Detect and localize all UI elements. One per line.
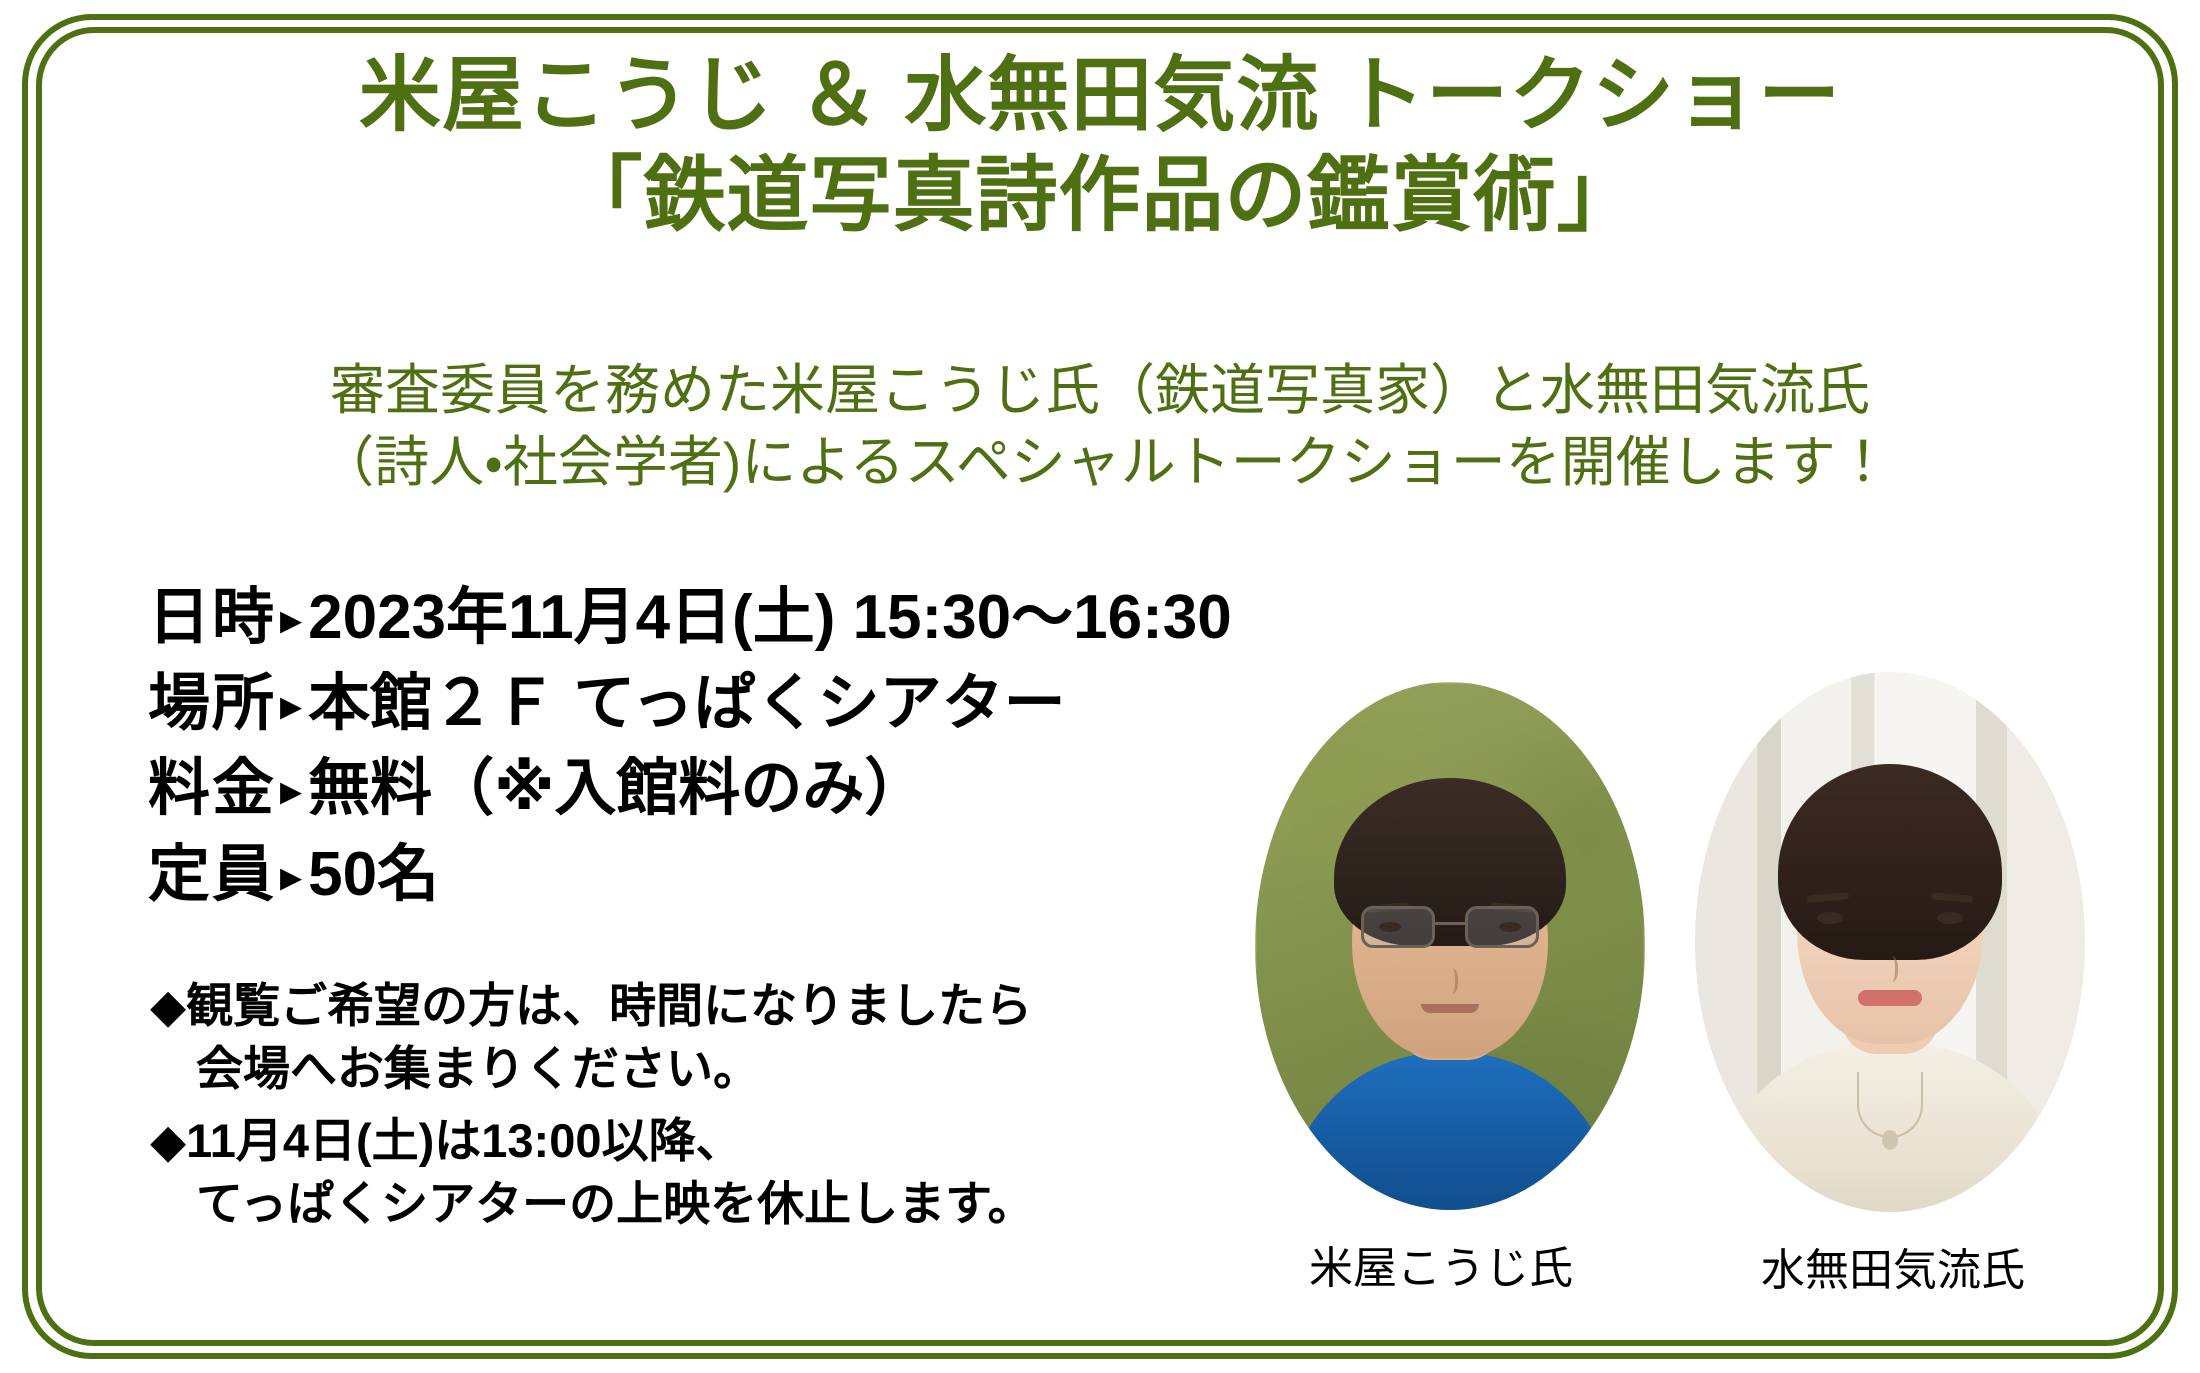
lead-line-1: 審査委員を務めた米屋こうじ氏（鉄道写真家）と水無田気流氏 bbox=[0, 355, 2200, 427]
portrait-mouth bbox=[1858, 990, 1922, 1006]
speaker-portraits: 米屋こうじ氏 水無田気流氏 bbox=[1255, 672, 2160, 1312]
detail-value-datetime: 2023年11月4日(土) 15:30〜16:30 bbox=[308, 575, 1232, 661]
event-notes: ◆観覧ご希望の方は、時間になりましたら 会場へお集まりください。 ◆11月4日(… bbox=[150, 975, 1280, 1245]
event-details: 日時 ▸ 2023年11月4日(土) 15:30〜16:30 場所 ▸ 本館２Ｆ… bbox=[148, 575, 1232, 917]
necklace-icon bbox=[1857, 1072, 1923, 1138]
lead-line-2: （詩人・社会学者)によるスペシャルトークショーを開催します！ bbox=[0, 427, 2200, 499]
detail-value-capacity: 50名 bbox=[308, 832, 439, 918]
glasses-bridge bbox=[1435, 922, 1465, 925]
title-line-2: 「鉄道写真詩作品の鑑賞術」 bbox=[0, 146, 2200, 246]
detail-value-fee: 無料（※入館料のみ） bbox=[308, 746, 926, 832]
portrait-eye bbox=[1379, 922, 1401, 932]
detail-label-fee: 料金 bbox=[148, 746, 276, 832]
arrow-icon: ▸ bbox=[276, 590, 308, 651]
speaker-caption-1: 米屋こうじ氏 bbox=[1255, 1232, 1645, 1296]
arrow-icon: ▸ bbox=[276, 847, 308, 908]
arrow-icon: ▸ bbox=[276, 676, 308, 737]
speaker-caption-2: 水無田気流氏 bbox=[1695, 1234, 2085, 1298]
portrait-mouth bbox=[1421, 1004, 1479, 1013]
portrait-eye bbox=[1817, 912, 1843, 924]
title-line-1: 米屋こうじ ＆ 水無田気流 トークショー bbox=[0, 46, 2200, 146]
detail-label-capacity: 定員 bbox=[148, 832, 276, 918]
note-2-line-2: てっぱくシアターの上映を休止します。 bbox=[150, 1173, 1280, 1236]
note-2-line-1: ◆11月4日(土)は13:00以降、 bbox=[150, 1110, 1280, 1173]
portrait-eye bbox=[1499, 922, 1521, 932]
portrait-photo-man bbox=[1255, 682, 1645, 1210]
portrait-eye bbox=[1937, 912, 1963, 924]
detail-row-venue: 場所 ▸ 本館２Ｆ てっぱくシアター bbox=[148, 661, 1232, 747]
event-poster: 米屋こうじ ＆ 水無田気流 トークショー 「鉄道写真詩作品の鑑賞術」 審査委員を… bbox=[0, 0, 2200, 1373]
portrait-nose bbox=[1442, 968, 1458, 994]
portrait-photo-woman bbox=[1695, 672, 2085, 1212]
speaker-card-2: 水無田気流氏 bbox=[1695, 672, 2085, 1298]
portrait-nose bbox=[1882, 956, 1898, 982]
note-item: ◆観覧ご希望の方は、時間になりましたら 会場へお集まりください。 bbox=[150, 975, 1280, 1100]
arrow-icon: ▸ bbox=[276, 761, 308, 822]
detail-row-datetime: 日時 ▸ 2023年11月4日(土) 15:30〜16:30 bbox=[148, 575, 1232, 661]
detail-label-venue: 場所 bbox=[148, 661, 276, 747]
poster-title: 米屋こうじ ＆ 水無田気流 トークショー 「鉄道写真詩作品の鑑賞術」 bbox=[0, 46, 2200, 246]
detail-row-fee: 料金 ▸ 無料（※入館料のみ） bbox=[148, 746, 1232, 832]
note-1-line-2: 会場へお集まりください。 bbox=[150, 1038, 1280, 1101]
note-item: ◆11月4日(土)は13:00以降、 てっぱくシアターの上映を休止します。 bbox=[150, 1110, 1280, 1235]
note-1-line-1: ◆観覧ご希望の方は、時間になりましたら bbox=[150, 975, 1280, 1038]
detail-row-capacity: 定員 ▸ 50名 bbox=[148, 832, 1232, 918]
speaker-card-1: 米屋こうじ氏 bbox=[1255, 682, 1645, 1296]
poster-lead: 審査委員を務めた米屋こうじ氏（鉄道写真家）と水無田気流氏 （詩人・社会学者)によ… bbox=[0, 355, 2200, 498]
detail-label-datetime: 日時 bbox=[148, 575, 276, 661]
pendant-icon bbox=[1882, 1130, 1898, 1150]
detail-value-venue: 本館２Ｆ てっぱくシアター bbox=[308, 661, 1066, 747]
